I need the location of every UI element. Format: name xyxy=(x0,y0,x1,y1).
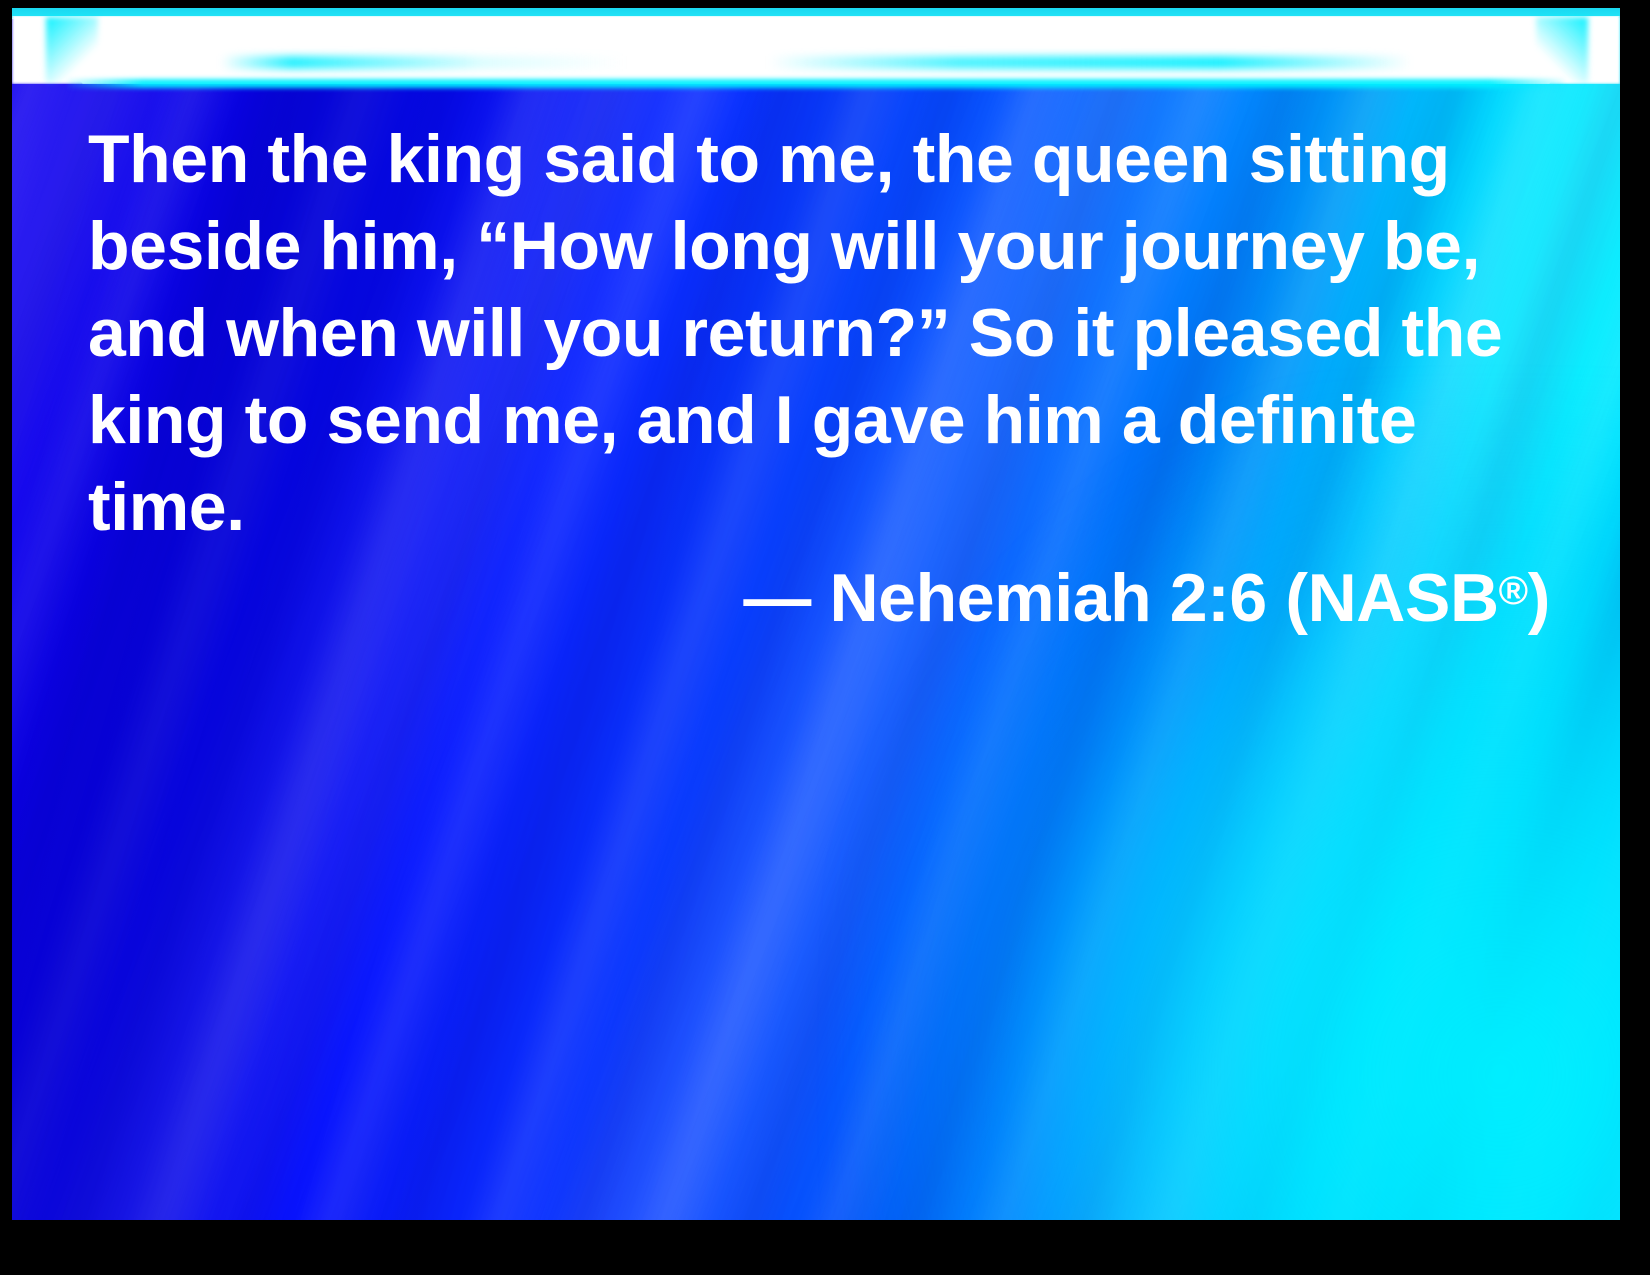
verse-attribution: — Nehemiah 2:6 (NASB®) xyxy=(88,555,1558,642)
verse-block: Then the king said to me, the queen sitt… xyxy=(88,116,1558,642)
attribution-version-open: (NASB xyxy=(1285,560,1498,636)
attribution-reference: 2:6 xyxy=(1170,560,1267,636)
attribution-version-close: ) xyxy=(1528,560,1550,636)
attribution-book: Nehemiah xyxy=(829,560,1151,636)
slide-canvas: Then the king said to me, the queen sitt… xyxy=(0,0,1650,1275)
attribution-dash: — xyxy=(743,560,811,636)
verse-text: Then the king said to me, the queen sitt… xyxy=(88,116,1558,551)
registered-trademark-icon: ® xyxy=(1499,569,1528,613)
slide-stage: Then the king said to me, the queen sitt… xyxy=(12,8,1620,1220)
